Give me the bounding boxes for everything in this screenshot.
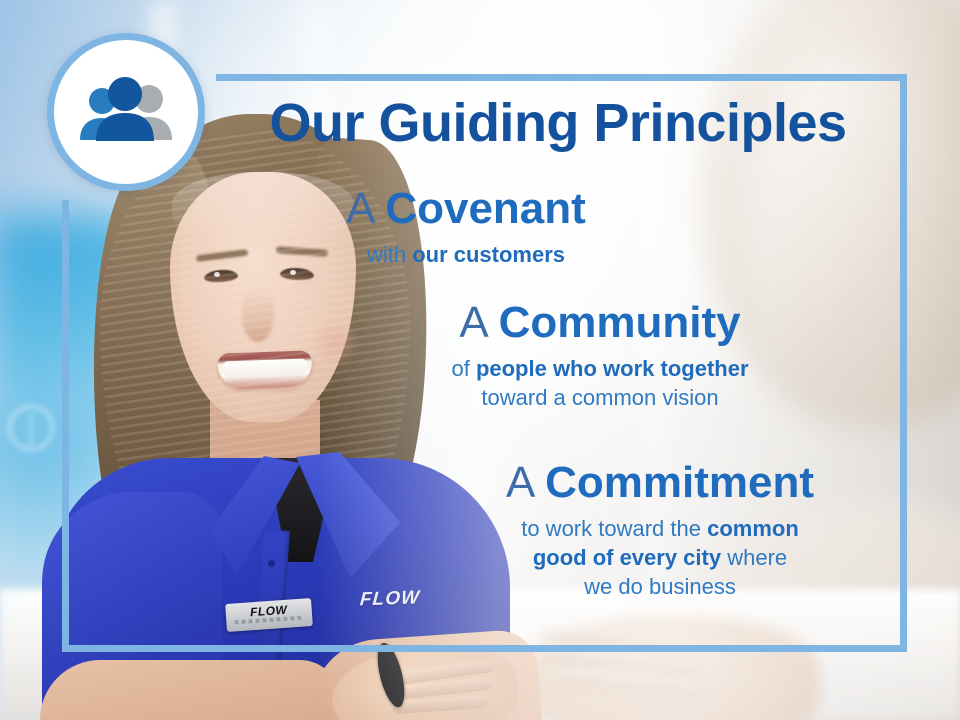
principles-graphic: FLOW FLOW [0,0,960,720]
frame-border-right [900,74,907,652]
principle-keyword: Community [499,298,741,347]
frame-border-bottom [62,645,907,652]
principle-heading: A Community [380,300,820,346]
principle-subtext-line: we do business [430,572,890,601]
principle-keyword: Covenant [385,184,585,233]
emphasis-text: common [707,516,799,541]
flow-chest-logo: FLOW [359,587,441,612]
shirt-button [268,560,275,567]
people-group-icon [74,76,178,148]
emphasis-text: people who work together [476,356,749,381]
plain-text: where [721,545,787,570]
principle-subtext-line: toward a common vision [380,383,820,412]
plain-text: with [367,242,412,267]
principle-article: A [346,184,385,233]
employee-nametag: FLOW [225,598,313,632]
frame-border-top [216,74,907,81]
principle-subtext: of people who work togethertoward a comm… [380,354,820,412]
principle-heading: A Commitment [430,460,890,506]
page-title: Our Guiding Principles [216,95,900,152]
blurred-car-emblem-icon [8,405,54,451]
frame-border-left [62,200,69,652]
people-badge [47,33,205,191]
principle-block-commitment: A Commitment to work toward the commongo… [430,460,890,601]
employee-left-arm [40,660,340,720]
principle-article: A [506,458,545,507]
principle-subtext: to work toward the commongood of every c… [430,514,890,601]
plain-text: we do business [584,574,736,599]
principle-subtext-line: to work toward the common [430,514,890,543]
principle-keyword: Commitment [545,458,814,507]
principle-heading: A Covenant [256,186,676,232]
emphasis-text: good of every city [533,545,721,570]
principle-article: A [459,298,498,347]
principle-subtext-line: with our customers [256,240,676,269]
principle-subtext-line: of people who work together [380,354,820,383]
emphasis-text: our customers [412,242,565,267]
plain-text: to work toward the [521,516,707,541]
plain-text: of [451,356,475,381]
plain-text: toward a common vision [481,385,718,410]
principle-subtext-line: good of every city where [430,543,890,572]
principle-block-community: A Community of people who work togethert… [380,300,820,412]
principle-subtext: with our customers [256,240,676,269]
principle-block-covenant: A Covenant with our customers [256,186,676,269]
